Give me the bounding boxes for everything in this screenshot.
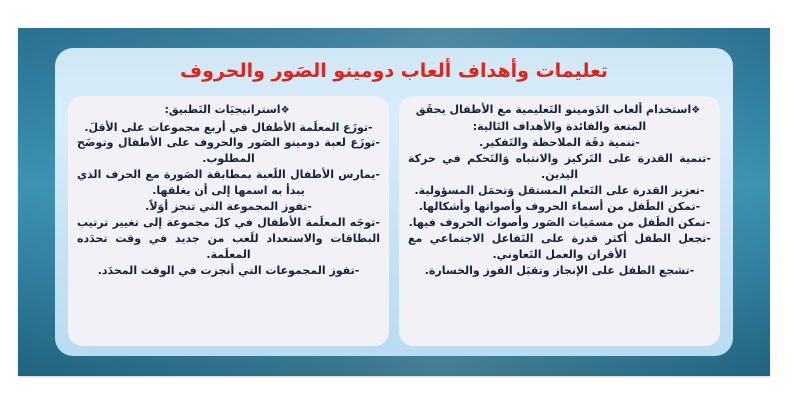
list-item: -تنمية القدرة على التَركيز والانتباه وَا…	[408, 151, 711, 183]
list-item: -تنمية دقَة الملاحظة والتَفكير.	[408, 135, 711, 151]
page-root: تعليمات وأهداف ألعاب دومينو الصَور والحر…	[0, 0, 800, 403]
list-item: -تفوز المجموعة التي تنجز أوَلاً.	[77, 199, 380, 215]
list-item: -توجَه المعلَمة الأطفال في كلَ مجموعة إل…	[77, 215, 380, 263]
floret-bullet-icon: ❖	[691, 105, 700, 116]
list-item: -تشجع الطفل على الإنجاز وتقبَل الفوز وال…	[408, 263, 711, 279]
panel-strategies: ❖استراتيجيَات التَطبيق: -توزَع المعلَمة …	[68, 96, 389, 346]
list-item: -يمارس الأطفال اللَعبة بمطابقة الصَورة م…	[77, 167, 380, 199]
list-item: -تجعل الطفل أكثر قدرة على التَفاعل الاجت…	[408, 231, 711, 263]
objectives-heading: ❖استخدام ألعاب الدَومينو التَعليمية مع ا…	[408, 102, 711, 134]
columns-container: ❖استخدام ألعاب الدَومينو التَعليمية مع ا…	[68, 96, 720, 346]
list-item: -تفوز المجموعات التي أنجزت في الوقت المح…	[77, 263, 380, 279]
list-item: -تمكن الطَفل من مسمَيات الصَور وأصوات ال…	[408, 215, 711, 231]
list-item: -توزَع المعلَمة الأطفال في أربع مجموعات …	[77, 120, 380, 136]
floret-bullet-icon: ❖	[281, 105, 290, 116]
list-item: -تمكن الطَفل من أسماء الحروف وأصواتها وأ…	[408, 199, 711, 215]
outer-frame: تعليمات وأهداف ألعاب دومينو الصَور والحر…	[18, 28, 770, 376]
strategies-heading-text: استراتيجيَات التَطبيق:	[164, 103, 280, 116]
content-card: تعليمات وأهداف ألعاب دومينو الصَور والحر…	[55, 48, 733, 356]
list-item: -تعزيز القدرة على التَعلم المستقل وَتحمَ…	[408, 183, 711, 199]
list-item: -توزَع لعبة دومينو الصَور والحروف على ال…	[77, 135, 380, 167]
panel-objectives: ❖استخدام ألعاب الدَومينو التَعليمية مع ا…	[399, 96, 720, 346]
strategies-heading: ❖استراتيجيَات التَطبيق:	[77, 102, 380, 119]
objectives-heading-text: استخدام ألعاب الدَومينو التَعليمية مع ال…	[416, 103, 692, 133]
page-title: تعليمات وأهداف ألعاب دومينو الصَور والحر…	[55, 60, 733, 82]
